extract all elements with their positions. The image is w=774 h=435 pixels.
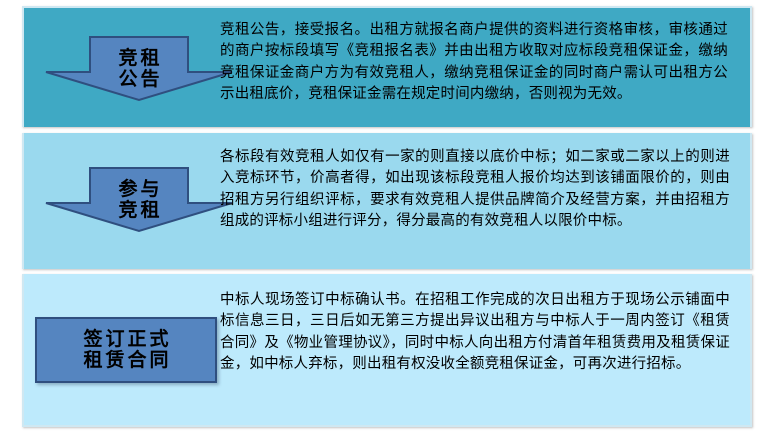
step-2-label-cell: 参与 竞租 bbox=[24, 133, 220, 269]
rectangle-shape-step-3: 签订正式 租赁合同 bbox=[35, 317, 217, 383]
flow-step-row-2: 参与 竞租 各标段有效竞租人如仅有一家的则直接以底价中标；如二家或二家以上的则进… bbox=[22, 133, 752, 269]
step-3-label-line-1: 签订正式 bbox=[80, 329, 171, 350]
down-arrow-shape-step-1: 竞租 公告 bbox=[44, 36, 234, 102]
step-1-body-text: 竞租公告，接受报名。出租方就报名商户提供的资料进行资格审核，审核通过的商户按标段… bbox=[220, 20, 744, 106]
step-3-body-text: 中标人现场签订中标确认书。在招租工作完成的次日出租方于现场公示铺面中标信息三日，… bbox=[220, 290, 744, 376]
flow-diagram: 竞租 公告 竞租公告，接受报名。出租方就报名商户提供的资料进行资格审核，审核通过… bbox=[0, 0, 774, 435]
step-1-label-cell: 竞租 公告 bbox=[24, 8, 220, 127]
step-3-label-line-2: 租赁合同 bbox=[80, 350, 171, 371]
step-3-label-cell: 签订正式 租赁合同 bbox=[24, 274, 220, 425]
flow-step-row-1: 竞租 公告 竞租公告，接受报名。出租方就报名商户提供的资料进行资格审核，审核通过… bbox=[22, 6, 752, 127]
down-arrow-shape-step-2: 参与 竞租 bbox=[44, 167, 234, 233]
step-2-body-text: 各标段有效竞租人如仅有一家的则直接以底价中标；如二家或二家以上的则进入竞标环节，… bbox=[220, 147, 744, 233]
flow-step-row-3: 签订正式 租赁合同 中标人现场签订中标确认书。在招租工作完成的次日出租方于现场公… bbox=[22, 274, 752, 427]
